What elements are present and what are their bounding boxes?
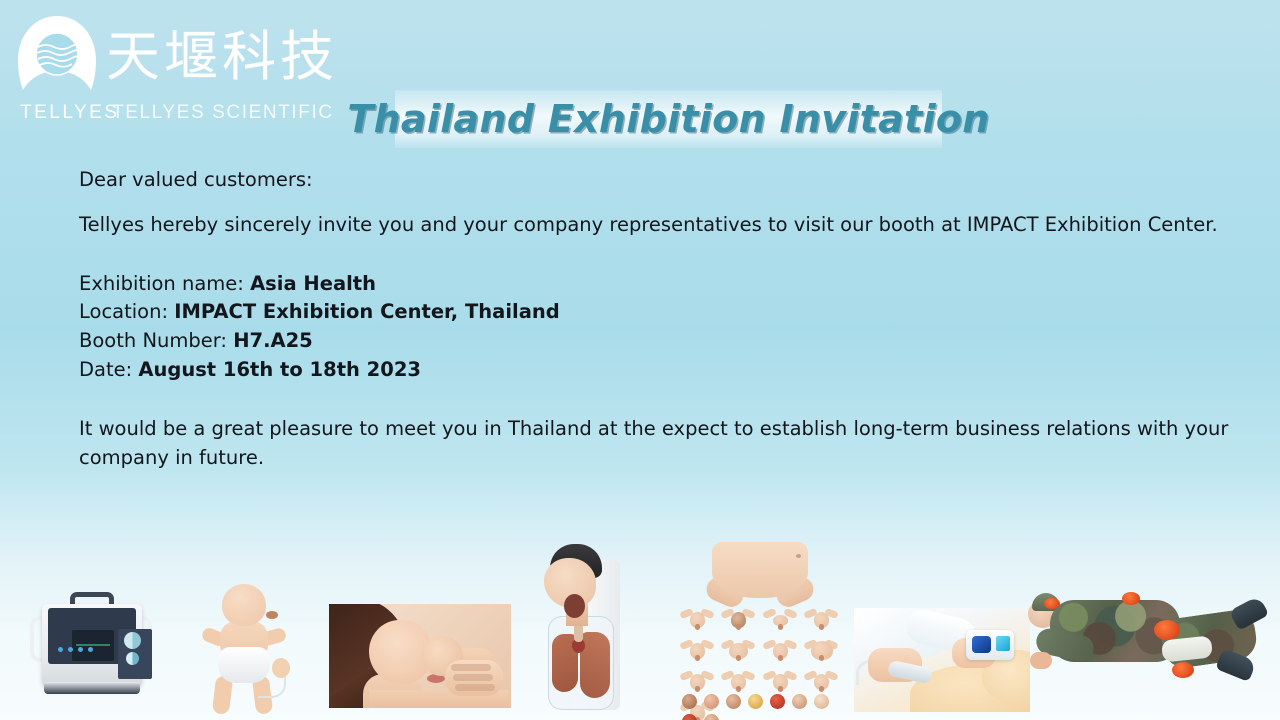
product-image-military-trauma-casualty-manikin [1022,580,1268,712]
logo-wordmark-en: TELLYES [20,102,120,124]
detail-booth-number: Booth Number: H7.A25 [79,327,1229,356]
detail-value: Asia Health [250,272,376,295]
product-image-obstetric-ultrasound-simulation [854,608,1030,712]
product-image-airway-lung-intubation-trainer [528,544,624,712]
detail-value: H7.A25 [233,329,313,352]
detail-date: Date: August 16th to 18th 2023 [79,356,1229,385]
closing-paragraph: It would be a great pleasure to meet you… [79,415,1229,473]
brand-name-cn: 天堰科技 [106,28,338,86]
brand-logo-block: TELLYES 天堰科技 TELLYES SCIENTIFIC [8,14,308,119]
detail-value: August 16th to 18th 2023 [138,358,421,381]
detail-label: Exhibition name: [79,272,250,295]
cervix-model-row [682,694,842,720]
invitation-slide: TELLYES 天堰科技 TELLYES SCIENTIFIC Thailand… [0,0,1280,720]
letter-body: Dear valued customers: Tellyes hereby si… [79,166,1229,472]
product-image-maternal-breastfeeding-model [329,604,511,708]
intro-paragraph: Tellyes hereby sincerely invite you and … [79,211,1229,240]
detail-label: Date: [79,358,138,381]
title-banner: Thailand Exhibition Invitation [395,90,942,148]
detail-value: IMPACT Exhibition Center, Thailand [174,300,559,323]
product-image-infant-cpr-manikin [196,584,292,714]
detail-label: Booth Number: [79,329,233,352]
brand-name-en: TELLYES SCIENTIFIC [112,102,334,124]
page-title: Thailand Exhibition Invitation [395,90,942,148]
tellyes-dome-wave-logo-icon [12,14,102,94]
detail-exhibition-name: Exhibition name: Asia Health [79,270,1229,299]
product-image-patient-monitor-defibrillator [28,590,156,702]
detail-location: Location: IMPACT Exhibition Center, Thai… [79,298,1229,327]
product-image-gynecological-uterus-training-set [672,542,848,714]
salutation: Dear valued customers: [79,166,1229,195]
detail-label: Location: [79,300,174,323]
product-image-strip [0,520,1280,720]
